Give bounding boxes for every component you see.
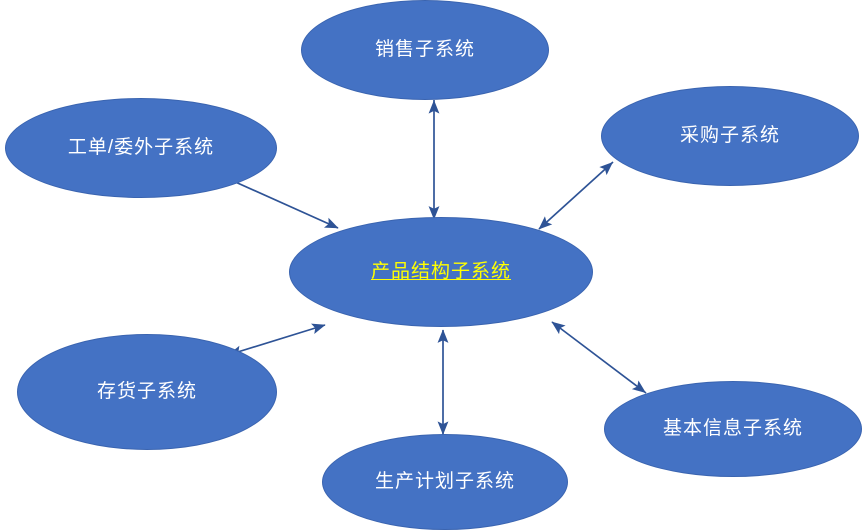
node-inventory[interactable]: 存货子系统 (17, 334, 277, 450)
node-work-order[interactable]: 工单/委外子系统 (5, 98, 277, 198)
node-label-production-plan: 生产计划子系统 (375, 471, 515, 494)
node-label-sales: 销售子系统 (375, 39, 475, 62)
diagram-canvas: 产品结构子系统 销售子系统 工单/委外子系统 采购子系统 存货子系统 生产计划子… (0, 0, 866, 530)
node-label-product-structure: 产品结构子系统 (371, 261, 511, 284)
node-label-purchasing: 采购子系统 (680, 125, 780, 148)
connector-center-inventory (228, 325, 325, 355)
node-label-work-order: 工单/委外子系统 (68, 137, 214, 160)
node-basic-info[interactable]: 基本信息子系统 (604, 381, 862, 477)
node-label-basic-info: 基本信息子系统 (663, 418, 803, 441)
connector-center-purchasing (539, 162, 613, 229)
node-purchasing[interactable]: 采购子系统 (601, 86, 859, 186)
node-sales[interactable]: 销售子系统 (301, 0, 549, 100)
node-label-inventory: 存货子系统 (97, 381, 197, 404)
connector-center-basic-info (552, 322, 646, 393)
node-production-plan[interactable]: 生产计划子系统 (322, 434, 568, 530)
node-product-structure[interactable]: 产品结构子系统 (289, 217, 593, 327)
